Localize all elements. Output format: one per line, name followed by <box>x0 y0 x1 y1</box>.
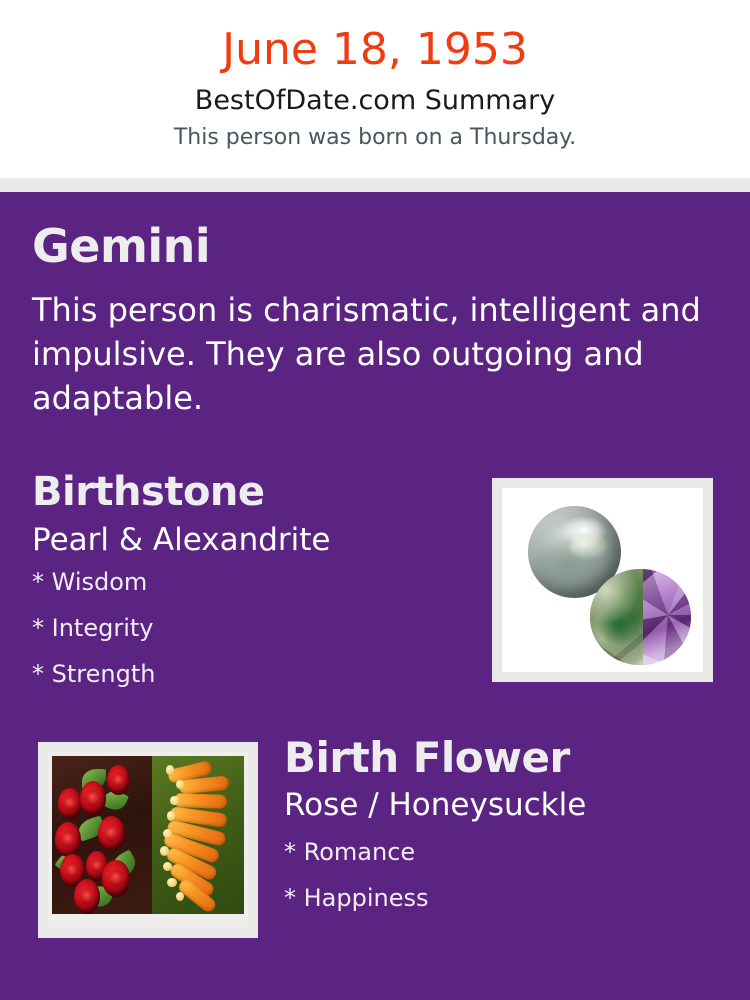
alexandrite-gem-icon <box>590 569 691 665</box>
summary-card: June 18, 1953 BestOfDate.com Summary Thi… <box>0 0 750 1000</box>
alexandrite-rough-half <box>590 569 642 665</box>
birth-flower-image <box>48 752 248 928</box>
site-name: BestOfDate.com Summary <box>0 72 750 116</box>
birth-flower-value: Rose / Honeysuckle <box>284 790 586 821</box>
list-item: * Integrity <box>32 616 155 640</box>
birth-weekday-text: This person was born on a Thursday. <box>0 116 750 150</box>
birthstone-value: Pearl & Alexandrite <box>32 525 331 556</box>
birthstone-trait-list: * Wisdom * Integrity * Strength <box>32 570 155 708</box>
birthstone-image-frame <box>492 478 713 682</box>
list-item: * Strength <box>32 662 155 686</box>
details-panel: Gemini This person is charismatic, intel… <box>0 192 750 1000</box>
page-title-date: June 18, 1953 <box>0 0 750 72</box>
birthstone-image <box>502 488 703 672</box>
birthstone-heading: Birthstone <box>32 472 265 512</box>
zodiac-description: This person is charismatic, intelligent … <box>32 288 708 420</box>
list-item: * Happiness <box>284 886 429 910</box>
birth-flower-heading: Birth Flower <box>284 737 570 779</box>
flower-split-photo <box>52 756 244 914</box>
birth-flower-image-frame <box>38 742 258 938</box>
list-item: * Romance <box>284 840 429 864</box>
header: June 18, 1953 BestOfDate.com Summary Thi… <box>0 0 750 178</box>
alexandrite-faceted-half <box>643 569 691 665</box>
zodiac-sign-title: Gemini <box>32 223 210 269</box>
list-item: * Wisdom <box>32 570 155 594</box>
birth-flower-trait-list: * Romance * Happiness <box>284 840 429 932</box>
header-divider <box>0 178 750 192</box>
honeysuckle-photo-half <box>152 756 244 914</box>
roses-photo-half <box>52 756 152 914</box>
